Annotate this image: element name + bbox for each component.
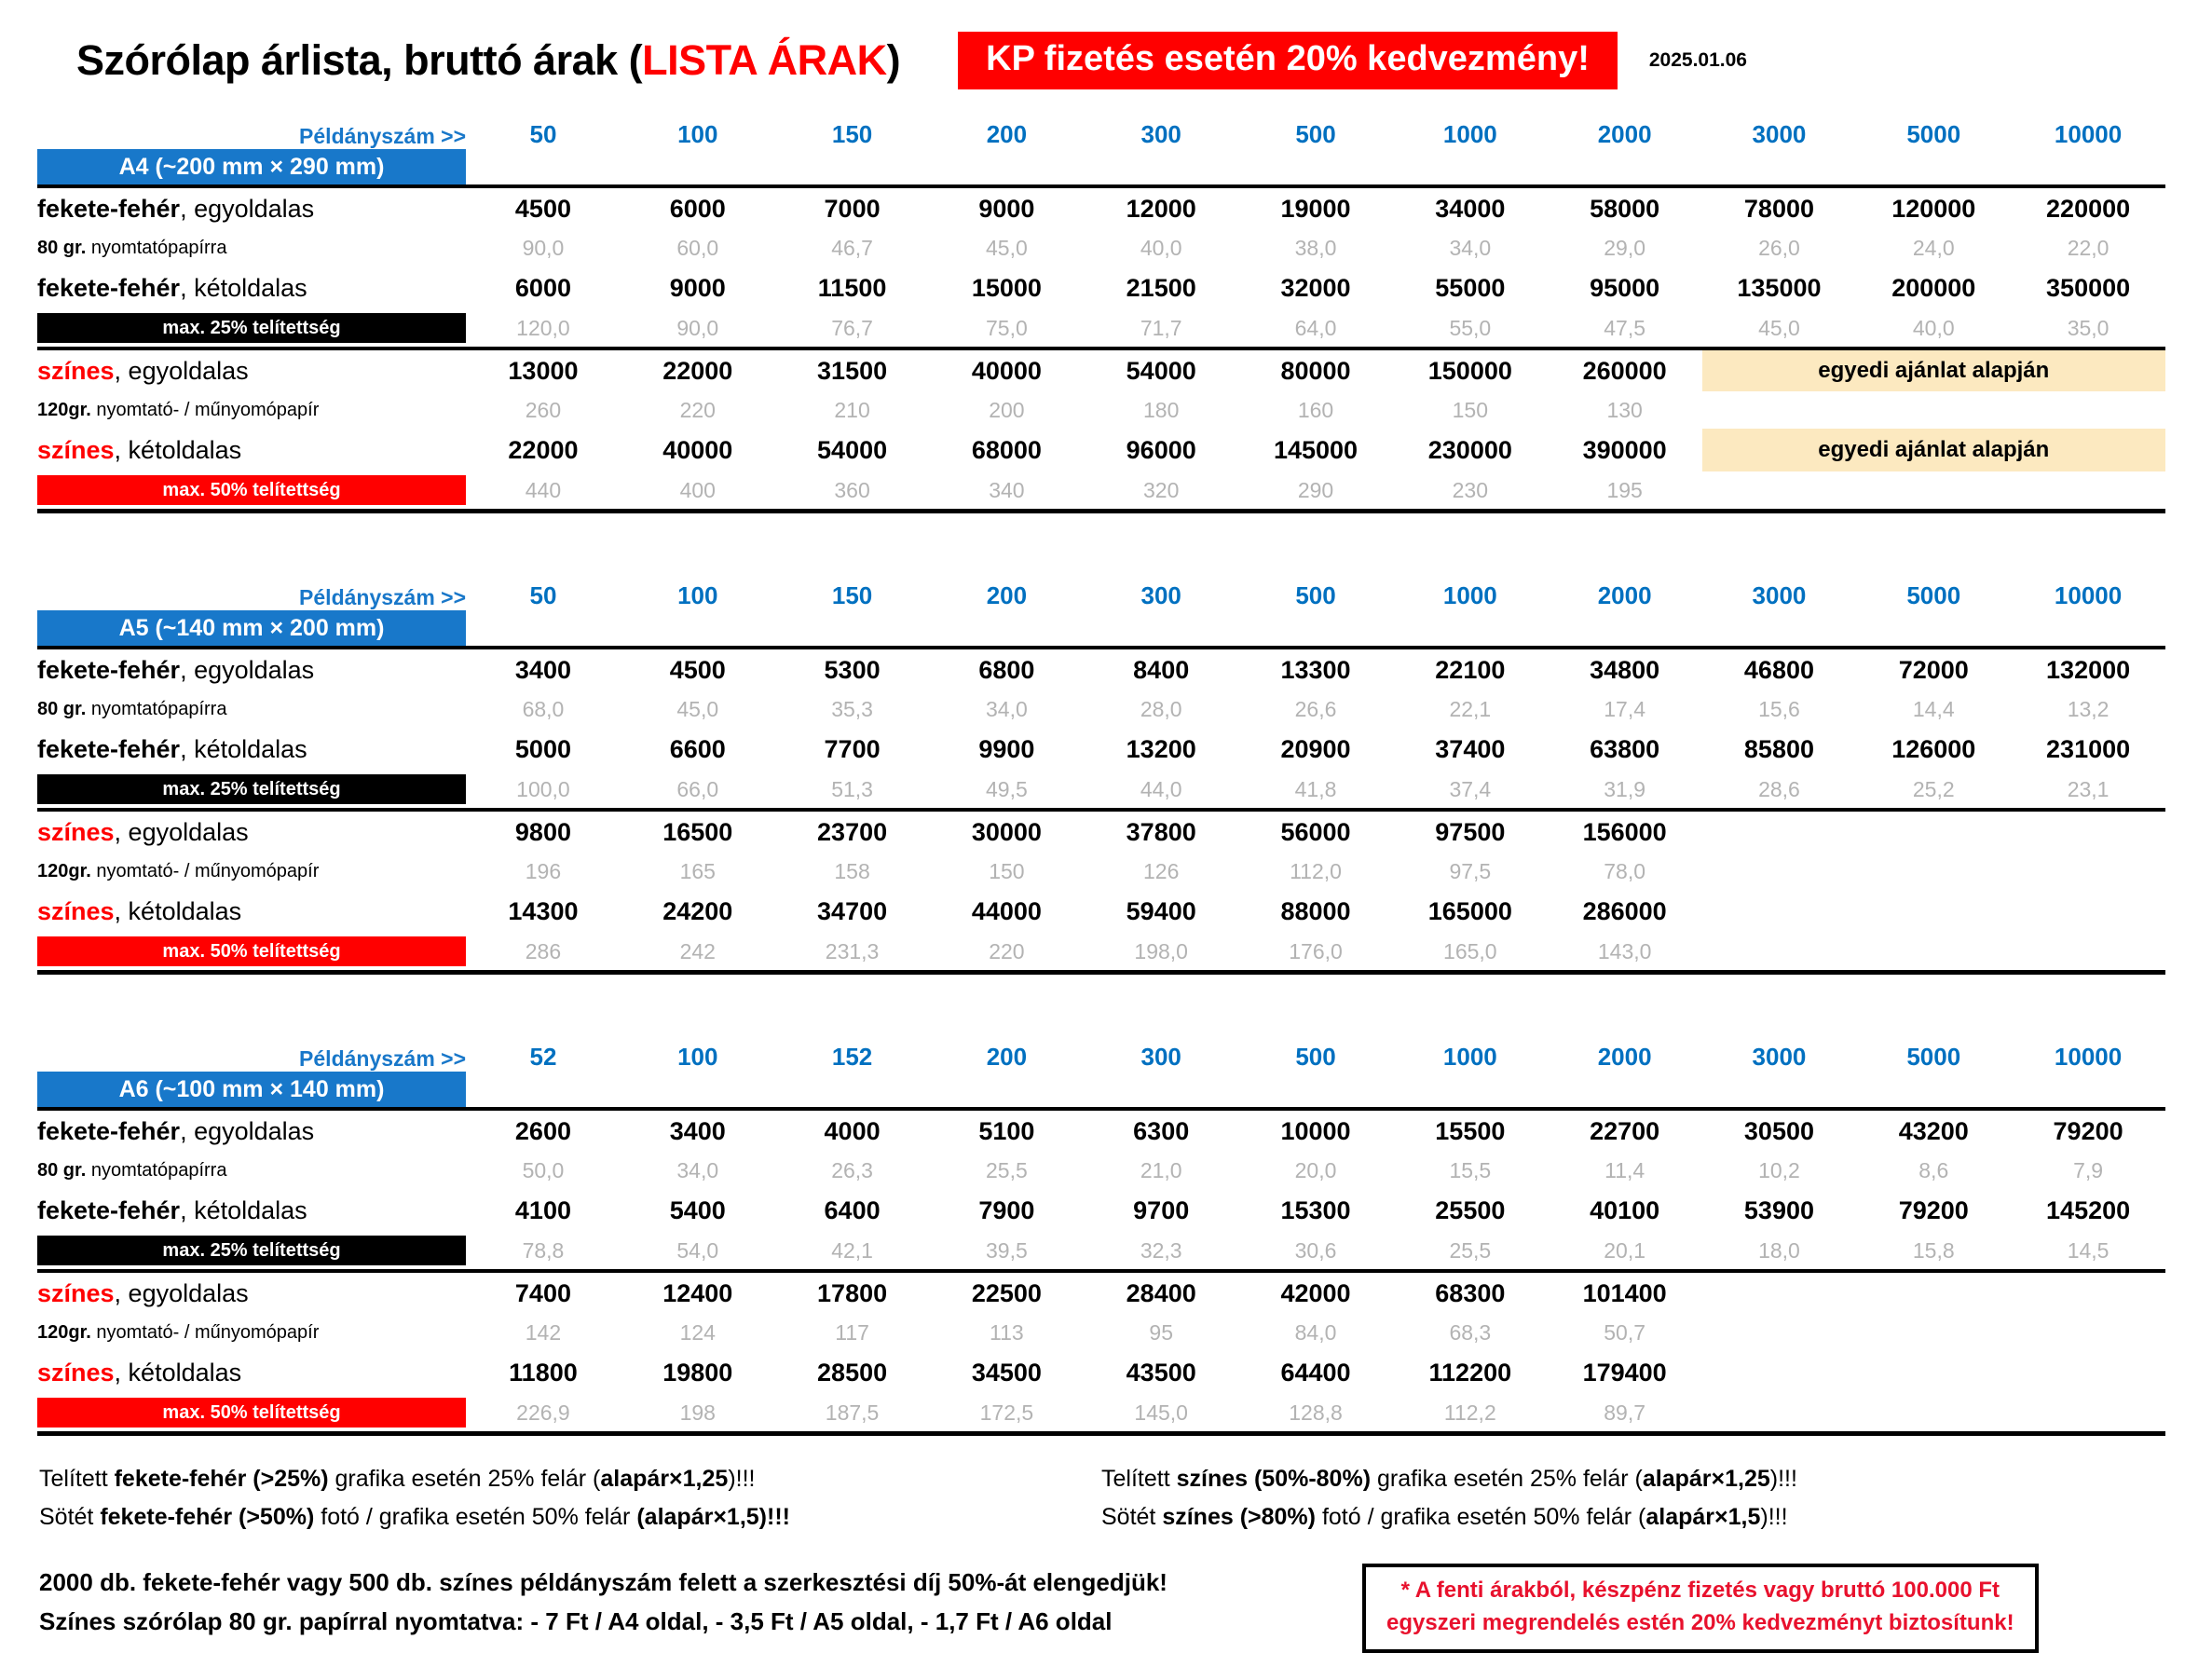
cell-value: 198,0 bbox=[1084, 933, 1238, 970]
cell-value: 16500 bbox=[621, 810, 775, 853]
paper-label-color: 120gr. nyomtató- / műnyomópapír bbox=[37, 391, 466, 429]
paper-label-bw: 80 gr. nyomtatópapírra bbox=[37, 1152, 466, 1189]
size-banner-row: A4 (~200 mm × 290 mm) bbox=[37, 149, 2165, 184]
cell-value: 30,6 bbox=[1238, 1232, 1393, 1269]
chip-25-cell: max. 25% telítettség bbox=[37, 771, 466, 808]
cell-value: 165 bbox=[621, 853, 775, 890]
size-banner-spacer bbox=[466, 149, 621, 184]
cell-value: 15300 bbox=[1238, 1189, 1393, 1232]
cell-value: 7400 bbox=[466, 1271, 621, 1314]
cell-value: 28500 bbox=[775, 1351, 930, 1394]
cell-value: 89,7 bbox=[1548, 1394, 1702, 1431]
cell-value: 80000 bbox=[1238, 348, 1393, 391]
row-bw-two-sided-unit: max. 25% telítettség78,854,042,139,532,3… bbox=[37, 1232, 2165, 1269]
note-bw-filled-p3: grafika esetén 25% felár ( bbox=[329, 1466, 601, 1492]
size-banner-spacer bbox=[1702, 1072, 1857, 1107]
row-bw-two-sided-unit: max. 25% telítettség120,090,076,775,071,… bbox=[37, 309, 2165, 347]
cell-value: 13200 bbox=[1084, 728, 1238, 771]
cell-value: 150 bbox=[929, 853, 1084, 890]
row-bw-two-sided-unit: max. 25% telítettség100,066,051,349,544,… bbox=[37, 771, 2165, 808]
cell-value: 22100 bbox=[1393, 648, 1548, 690]
cell-value: 113 bbox=[929, 1314, 1084, 1351]
cell-value: 135000 bbox=[1702, 266, 1857, 309]
cell-empty bbox=[1856, 810, 2011, 853]
quantity-column-200: 200 bbox=[929, 571, 1084, 610]
row-label-bw-one: fekete-fehér, egyoldalas bbox=[37, 1109, 466, 1152]
cell-value: 14300 bbox=[466, 890, 621, 933]
row-color-two-sided: színes, kétoldalas1180019800285003450043… bbox=[37, 1351, 2165, 1394]
cell-value: 19000 bbox=[1238, 186, 1393, 229]
price-table-a4: Példányszám >>50100150200300500100020003… bbox=[37, 110, 2165, 513]
cell-value: 112200 bbox=[1393, 1351, 1548, 1394]
cell-value: 97,5 bbox=[1393, 853, 1548, 890]
cell-value: 6300 bbox=[1084, 1109, 1238, 1152]
cell-value: 28,0 bbox=[1084, 690, 1238, 728]
cell-empty bbox=[1702, 471, 1857, 509]
size-banner-cell: A5 (~140 mm × 200 mm) bbox=[37, 610, 466, 646]
row-label-color-one: színes, egyoldalas bbox=[37, 1271, 466, 1314]
row-bw-one-sided: fekete-fehér, egyoldalas4500600070009000… bbox=[37, 186, 2165, 229]
note-bw-filled-p4: alapár×1,25 bbox=[600, 1466, 728, 1492]
cell-value: 340 bbox=[929, 471, 1084, 509]
cell-value: 84,0 bbox=[1238, 1314, 1393, 1351]
size-banner-spacer bbox=[1856, 149, 2011, 184]
chip-25-cell: max. 25% telítettség bbox=[37, 309, 466, 347]
cell-value: 12400 bbox=[621, 1271, 775, 1314]
cell-value: 6400 bbox=[775, 1189, 930, 1232]
cell-value: 101400 bbox=[1548, 1271, 1702, 1314]
cell-value: 20,1 bbox=[1548, 1232, 1702, 1269]
price-table-a6: Példányszám >>52100152200300500100020003… bbox=[37, 1032, 2165, 1436]
cell-value: 88000 bbox=[1238, 890, 1393, 933]
table-rule-cell bbox=[37, 970, 2165, 973]
cell-empty bbox=[1856, 1271, 2011, 1314]
quantity-column-52: 52 bbox=[466, 1032, 621, 1072]
saturation-chip-25: max. 25% telítettség bbox=[37, 1236, 466, 1265]
cell-value: 150000 bbox=[1393, 348, 1548, 391]
quantity-column-1000: 1000 bbox=[1393, 571, 1548, 610]
cell-empty bbox=[1702, 1271, 1857, 1314]
cell-value: 47,5 bbox=[1548, 309, 1702, 347]
cell-value: 85800 bbox=[1702, 728, 1857, 771]
cell-empty bbox=[1856, 1351, 2011, 1394]
quantity-column-500: 500 bbox=[1238, 1032, 1393, 1072]
cell-value: 6600 bbox=[621, 728, 775, 771]
cell-value: 13000 bbox=[466, 348, 621, 391]
size-banner-row: A6 (~100 mm × 140 mm) bbox=[37, 1072, 2165, 1107]
note-bw-dark-p1: Sötét bbox=[39, 1504, 100, 1530]
cell-empty bbox=[2011, 1314, 2165, 1351]
size-banner-spacer bbox=[466, 1072, 621, 1107]
row-bw-two-sided: fekete-fehér, kétoldalas5000660077009900… bbox=[37, 728, 2165, 771]
row-bw-one-sided: fekete-fehér, egyoldalas2600340040005100… bbox=[37, 1109, 2165, 1152]
row-label-color-two: színes, kétoldalas bbox=[37, 429, 466, 471]
page-title-accent: LISTA ÁRAK bbox=[642, 36, 886, 84]
size-banner-spacer bbox=[2011, 149, 2165, 184]
cell-value: 4500 bbox=[466, 186, 621, 229]
row-color-two-sided-unit: max. 50% telítettség44040036034032029023… bbox=[37, 471, 2165, 509]
cell-value: 6000 bbox=[466, 266, 621, 309]
size-banner-spacer bbox=[1238, 149, 1393, 184]
cell-value: 231,3 bbox=[775, 933, 930, 970]
surcharge-notes-bw: Telített fekete-fehér (>25%) grafika ese… bbox=[39, 1460, 1101, 1536]
cell-value: 11,4 bbox=[1548, 1152, 1702, 1189]
size-banner-spacer bbox=[1702, 610, 1857, 646]
cash-discount-line-2: egyszeri megrendelés estén 20% kedvezmén… bbox=[1386, 1607, 2014, 1640]
cell-value: 40000 bbox=[929, 348, 1084, 391]
cell-value: 68000 bbox=[929, 429, 1084, 471]
cell-value: 39,5 bbox=[929, 1232, 1084, 1269]
cell-value: 120,0 bbox=[466, 309, 621, 347]
note-bw-filled-p1: Telített bbox=[39, 1466, 115, 1492]
row-label-color-one: színes, egyoldalas bbox=[37, 810, 466, 853]
cell-value: 14,5 bbox=[2011, 1232, 2165, 1269]
cell-value: 25500 bbox=[1393, 1189, 1548, 1232]
cell-value: 34,0 bbox=[929, 690, 1084, 728]
cell-value: 58000 bbox=[1548, 186, 1702, 229]
cell-value: 23700 bbox=[775, 810, 930, 853]
cell-value: 22700 bbox=[1548, 1109, 1702, 1152]
size-banner-spacer bbox=[1856, 1072, 2011, 1107]
note-color-filled-p1: Telített bbox=[1101, 1466, 1177, 1492]
row-label-bw-two: fekete-fehér, kétoldalas bbox=[37, 1189, 466, 1232]
cell-empty bbox=[2011, 1271, 2165, 1314]
cell-value: 21,0 bbox=[1084, 1152, 1238, 1189]
editing-fee-note: 2000 db. fekete-fehér vagy 500 db. színe… bbox=[39, 1564, 1325, 1603]
quantity-column-10000: 10000 bbox=[2011, 571, 2165, 610]
table-rule bbox=[37, 1431, 2165, 1434]
cell-value: 43500 bbox=[1084, 1351, 1238, 1394]
cell-value: 180 bbox=[1084, 391, 1238, 429]
row-label-color-two: színes, kétoldalas bbox=[37, 890, 466, 933]
cash-discount-box: * A fenti árakból, készpénz fizetés vagy… bbox=[1362, 1564, 2039, 1653]
cell-value: 128,8 bbox=[1238, 1394, 1393, 1431]
saturation-chip-25: max. 25% telítettség bbox=[37, 313, 466, 343]
price-list-page: Szórólap árlista, bruttó árak (LISTA ÁRA… bbox=[0, 0, 2212, 1564]
cell-empty bbox=[2011, 810, 2165, 853]
quantity-column-300: 300 bbox=[1084, 1032, 1238, 1072]
table-rule-cell bbox=[37, 509, 2165, 512]
size-banner-spacer bbox=[2011, 610, 2165, 646]
cell-value: 360 bbox=[775, 471, 930, 509]
cell-value: 25,5 bbox=[929, 1152, 1084, 1189]
size-banner-row: A5 (~140 mm × 200 mm) bbox=[37, 610, 2165, 646]
footer-bottom: 2000 db. fekete-fehér vagy 500 db. színe… bbox=[39, 1564, 2175, 1653]
quantity-column-1000: 1000 bbox=[1393, 110, 1548, 149]
quantity-column-300: 300 bbox=[1084, 571, 1238, 610]
quantity-column-100: 100 bbox=[621, 571, 775, 610]
cell-value: 31,9 bbox=[1548, 771, 1702, 808]
cell-value: 78000 bbox=[1702, 186, 1857, 229]
paper-label-color: 120gr. nyomtató- / műnyomópapír bbox=[37, 853, 466, 890]
quantity-column-3000: 3000 bbox=[1702, 110, 1857, 149]
quantity-header-row: Példányszám >>50100150200300500100020003… bbox=[37, 571, 2165, 610]
cell-value: 120000 bbox=[1856, 186, 2011, 229]
cell-value: 79200 bbox=[2011, 1109, 2165, 1152]
cell-value: 22500 bbox=[929, 1271, 1084, 1314]
cell-value: 96000 bbox=[1084, 429, 1238, 471]
cell-value: 200000 bbox=[1856, 266, 2011, 309]
cell-value: 126 bbox=[1084, 853, 1238, 890]
cell-empty bbox=[1702, 933, 1857, 970]
size-banner-spacer bbox=[1393, 149, 1548, 184]
note-bw-dark-p3: fotó / grafika esetén 50% felár bbox=[314, 1504, 636, 1530]
cell-value: 8,6 bbox=[1856, 1152, 2011, 1189]
size-banner-spacer bbox=[1856, 610, 2011, 646]
quantity-header-label: Példányszám >> bbox=[37, 571, 466, 610]
cell-value: 42,1 bbox=[775, 1232, 930, 1269]
cell-value: 25,5 bbox=[1393, 1232, 1548, 1269]
note-bw-dark-p2: fekete-fehér (>50%) bbox=[100, 1504, 314, 1530]
cell-value: 124 bbox=[621, 1314, 775, 1351]
cell-value: 68300 bbox=[1393, 1271, 1548, 1314]
note-color-filled: Telített színes (50%-80%) grafika esetén… bbox=[1101, 1460, 2164, 1498]
note-bw-filled-p5: )!!! bbox=[728, 1466, 755, 1492]
table-rule bbox=[37, 509, 2165, 512]
note-bw-filled-p2: fekete-fehér (>25%) bbox=[115, 1466, 329, 1492]
size-banner-spacer bbox=[1238, 610, 1393, 646]
cell-value: 196 bbox=[466, 853, 621, 890]
cell-value: 31500 bbox=[775, 348, 930, 391]
size-banner-spacer bbox=[1084, 610, 1238, 646]
cell-empty bbox=[1702, 890, 1857, 933]
cell-value: 350000 bbox=[2011, 266, 2165, 309]
quantity-column-100: 100 bbox=[621, 1032, 775, 1072]
cell-empty bbox=[1856, 853, 2011, 890]
cell-value: 75,0 bbox=[929, 309, 1084, 347]
row-color-one-sided-unit: 120gr. nyomtató- / műnyomópapír196165158… bbox=[37, 853, 2165, 890]
cell-value: 71,7 bbox=[1084, 309, 1238, 347]
cell-value: 53900 bbox=[1702, 1189, 1857, 1232]
row-color-two-sided: színes, kétoldalas1430024200347004400059… bbox=[37, 890, 2165, 933]
chip-50-cell: max. 50% telítettség bbox=[37, 1394, 466, 1431]
cell-value: 32,3 bbox=[1084, 1232, 1238, 1269]
row-label-bw-two: fekete-fehér, kétoldalas bbox=[37, 728, 466, 771]
cell-value: 6800 bbox=[929, 648, 1084, 690]
cell-value: 60,0 bbox=[621, 229, 775, 266]
row-color-two-sided-unit: max. 50% telítettség286242231,3220198,01… bbox=[37, 933, 2165, 970]
paper-label-bw: 80 gr. nyomtatópapírra bbox=[37, 229, 466, 266]
cell-value: 9000 bbox=[621, 266, 775, 309]
cell-empty bbox=[2011, 890, 2165, 933]
section-gap bbox=[37, 975, 2175, 1023]
row-color-two-sided: színes, kétoldalas2200040000540006800096… bbox=[37, 429, 2165, 471]
price-table-a5: Példányszám >>50100150200300500100020003… bbox=[37, 571, 2165, 975]
cell-empty bbox=[1856, 391, 2011, 429]
size-banner-spacer bbox=[929, 610, 1084, 646]
size-banner-spacer bbox=[775, 610, 930, 646]
quantity-column-3000: 3000 bbox=[1702, 1032, 1857, 1072]
cell-value: 17800 bbox=[775, 1271, 930, 1314]
cell-value: 68,0 bbox=[466, 690, 621, 728]
cell-value: 95000 bbox=[1548, 266, 1702, 309]
cell-value: 35,3 bbox=[775, 690, 930, 728]
cell-value: 230000 bbox=[1393, 429, 1548, 471]
cell-value: 26,3 bbox=[775, 1152, 930, 1189]
cell-value: 15,8 bbox=[1856, 1232, 2011, 1269]
cell-value: 7,9 bbox=[2011, 1152, 2165, 1189]
quantity-column-500: 500 bbox=[1238, 110, 1393, 149]
cell-value: 112,2 bbox=[1393, 1394, 1548, 1431]
cell-value: 242 bbox=[621, 933, 775, 970]
size-banner-a6: A6 (~100 mm × 140 mm) bbox=[37, 1072, 466, 1107]
cell-value: 176,0 bbox=[1238, 933, 1393, 970]
cell-value: 400 bbox=[621, 471, 775, 509]
cell-value: 43200 bbox=[1856, 1109, 2011, 1152]
cell-empty bbox=[1702, 810, 1857, 853]
cell-value: 95 bbox=[1084, 1314, 1238, 1351]
cell-value: 22,1 bbox=[1393, 690, 1548, 728]
cell-value: 7000 bbox=[775, 186, 930, 229]
cell-value: 64400 bbox=[1238, 1351, 1393, 1394]
cell-value: 4000 bbox=[775, 1109, 930, 1152]
quantity-column-1000: 1000 bbox=[1393, 1032, 1548, 1072]
quantity-column-5000: 5000 bbox=[1856, 571, 2011, 610]
saturation-chip-50: max. 50% telítettség bbox=[37, 936, 466, 966]
cell-value: 29,0 bbox=[1548, 229, 1702, 266]
cell-value: 44000 bbox=[929, 890, 1084, 933]
size-banner-spacer bbox=[1238, 1072, 1393, 1107]
row-label-color-one: színes, egyoldalas bbox=[37, 348, 466, 391]
quantity-column-2000: 2000 bbox=[1548, 110, 1702, 149]
size-banner-spacer bbox=[1393, 1072, 1548, 1107]
cell-empty bbox=[2011, 391, 2165, 429]
cell-value: 220000 bbox=[2011, 186, 2165, 229]
quantity-column-3000: 3000 bbox=[1702, 571, 1857, 610]
cell-value: 49,5 bbox=[929, 771, 1084, 808]
size-banner-spacer bbox=[775, 1072, 930, 1107]
size-banner-spacer bbox=[621, 1072, 775, 1107]
cell-value: 5100 bbox=[929, 1109, 1084, 1152]
cell-value: 40,0 bbox=[1084, 229, 1238, 266]
row-label-bw-one: fekete-fehér, egyoldalas bbox=[37, 648, 466, 690]
cell-value: 132000 bbox=[2011, 648, 2165, 690]
chip-50-cell: max. 50% telítettség bbox=[37, 471, 466, 509]
custom-offer-cell: egyedi ajánlat alapján bbox=[1702, 348, 2165, 391]
cell-empty bbox=[1856, 1394, 2011, 1431]
cell-value: 50,7 bbox=[1548, 1314, 1702, 1351]
page-title: Szórólap árlista, bruttó árak (LISTA ÁRA… bbox=[76, 36, 900, 85]
size-banner-spacer bbox=[1702, 149, 1857, 184]
cell-value: 34,0 bbox=[621, 1152, 775, 1189]
cell-empty bbox=[2011, 933, 2165, 970]
quantity-column-50: 50 bbox=[466, 110, 621, 149]
note-color-filled-p3: grafika esetén 25% felár ( bbox=[1371, 1466, 1643, 1492]
cell-value: 8400 bbox=[1084, 648, 1238, 690]
cell-value: 15,6 bbox=[1702, 690, 1857, 728]
cell-empty bbox=[1702, 1351, 1857, 1394]
cell-value: 45,0 bbox=[1702, 309, 1857, 347]
cell-value: 200 bbox=[929, 391, 1084, 429]
cell-value: 40100 bbox=[1548, 1189, 1702, 1232]
cell-value: 42000 bbox=[1238, 1271, 1393, 1314]
row-bw-one-sided-unit: 80 gr. nyomtatópapírra50,034,026,325,521… bbox=[37, 1152, 2165, 1189]
cell-value: 72000 bbox=[1856, 648, 2011, 690]
size-banner-spacer bbox=[1084, 149, 1238, 184]
cell-value: 4100 bbox=[466, 1189, 621, 1232]
cell-value: 68,3 bbox=[1393, 1314, 1548, 1351]
cell-value: 26,0 bbox=[1702, 229, 1857, 266]
cell-value: 22,0 bbox=[2011, 229, 2165, 266]
quantity-column-152: 152 bbox=[775, 1032, 930, 1072]
cell-value: 9900 bbox=[929, 728, 1084, 771]
cell-value: 28,6 bbox=[1702, 771, 1857, 808]
cell-value: 156000 bbox=[1548, 810, 1702, 853]
size-banner-spacer bbox=[466, 610, 621, 646]
quantity-column-2000: 2000 bbox=[1548, 1032, 1702, 1072]
cell-value: 34800 bbox=[1548, 648, 1702, 690]
table-rule-cell bbox=[37, 1431, 2165, 1434]
cell-value: 172,5 bbox=[929, 1394, 1084, 1431]
cell-value: 20900 bbox=[1238, 728, 1393, 771]
cell-value: 260 bbox=[466, 391, 621, 429]
cell-value: 54000 bbox=[1084, 348, 1238, 391]
cell-value: 35,0 bbox=[2011, 309, 2165, 347]
size-banner-spacer bbox=[1084, 1072, 1238, 1107]
cell-empty bbox=[1856, 1314, 2011, 1351]
cell-empty bbox=[2011, 1351, 2165, 1394]
quantity-column-5000: 5000 bbox=[1856, 110, 2011, 149]
chip-50-cell: max. 50% telítettség bbox=[37, 933, 466, 970]
cell-value: 19800 bbox=[621, 1351, 775, 1394]
cell-value: 198 bbox=[621, 1394, 775, 1431]
cell-value: 56000 bbox=[1238, 810, 1393, 853]
chip-25-cell: max. 25% telítettség bbox=[37, 1232, 466, 1269]
quantity-column-200: 200 bbox=[929, 110, 1084, 149]
cell-value: 46,7 bbox=[775, 229, 930, 266]
page-title-main: Szórólap árlista, bruttó árak ( bbox=[76, 36, 642, 84]
row-bw-one-sided-unit: 80 gr. nyomtatópapírra68,045,035,334,028… bbox=[37, 690, 2165, 728]
quantity-column-150: 150 bbox=[775, 110, 930, 149]
note-color-dark-p1: Sötét bbox=[1101, 1504, 1162, 1530]
note-color-dark: Sötét színes (>80%) fotó / grafika eseté… bbox=[1101, 1498, 2164, 1537]
cell-value: 231000 bbox=[2011, 728, 2165, 771]
cell-value: 55,0 bbox=[1393, 309, 1548, 347]
quantity-column-100: 100 bbox=[621, 110, 775, 149]
cell-value: 9000 bbox=[929, 186, 1084, 229]
cell-value: 66,0 bbox=[621, 771, 775, 808]
quantity-column-5000: 5000 bbox=[1856, 1032, 2011, 1072]
quantity-column-2000: 2000 bbox=[1548, 571, 1702, 610]
quantity-column-500: 500 bbox=[1238, 571, 1393, 610]
cell-value: 13,2 bbox=[2011, 690, 2165, 728]
row-label-color-two: színes, kétoldalas bbox=[37, 1351, 466, 1394]
note-color-dark-p5: )!!! bbox=[1760, 1504, 1787, 1530]
quantity-column-10000: 10000 bbox=[2011, 110, 2165, 149]
size-banner-spacer bbox=[1548, 149, 1702, 184]
cell-value: 390000 bbox=[1548, 429, 1702, 471]
cell-value: 12000 bbox=[1084, 186, 1238, 229]
cell-value: 5000 bbox=[466, 728, 621, 771]
cell-value: 23,1 bbox=[2011, 771, 2165, 808]
cell-value: 2600 bbox=[466, 1109, 621, 1152]
cell-value: 51,3 bbox=[775, 771, 930, 808]
cell-value: 320 bbox=[1084, 471, 1238, 509]
custom-offer-cell: egyedi ajánlat alapján bbox=[1702, 429, 2165, 471]
cell-value: 30500 bbox=[1702, 1109, 1857, 1152]
cell-value: 45,0 bbox=[929, 229, 1084, 266]
cell-value: 10,2 bbox=[1702, 1152, 1857, 1189]
cell-value: 15500 bbox=[1393, 1109, 1548, 1152]
cell-value: 5300 bbox=[775, 648, 930, 690]
cell-value: 230 bbox=[1393, 471, 1548, 509]
row-bw-two-sided: fekete-fehér, kétoldalas6000900011500150… bbox=[37, 266, 2165, 309]
saturation-chip-50: max. 50% telítettség bbox=[37, 475, 466, 505]
cell-empty bbox=[1702, 853, 1857, 890]
size-banner-spacer bbox=[1548, 1072, 1702, 1107]
cell-value: 9800 bbox=[466, 810, 621, 853]
size-banner-spacer bbox=[621, 610, 775, 646]
